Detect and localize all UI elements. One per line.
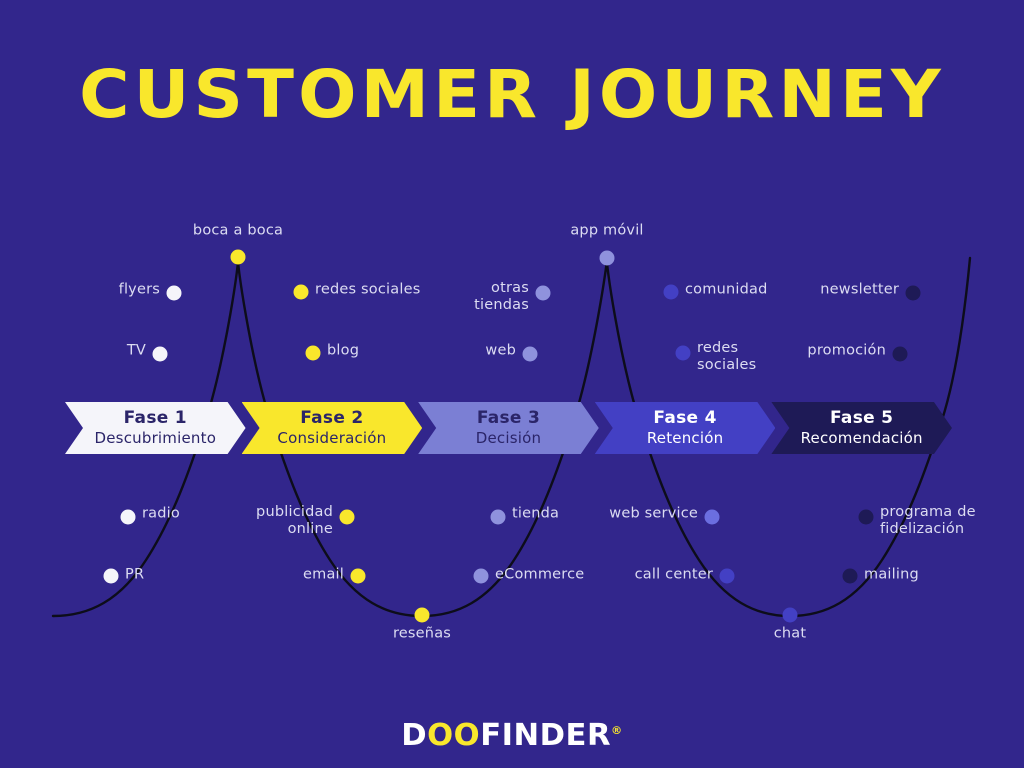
touchpoint-label: promoción (807, 342, 886, 359)
touchpoint-label: eCommerce (495, 566, 584, 583)
touchpoint-dot[interactable] (474, 569, 489, 584)
touchpoint-label: publicidad online (256, 504, 333, 538)
touchpoint-dot[interactable] (536, 286, 551, 301)
touchpoint-label: call center (635, 566, 713, 583)
phase-number: Fase 5 (830, 409, 893, 429)
touchpoint-dot[interactable] (415, 608, 430, 623)
touchpoint-label: app móvil (570, 222, 643, 239)
touchpoint-label: programa de fidelización (880, 504, 976, 538)
phase-name: Recomendación (801, 429, 923, 447)
phase-5[interactable]: Fase 5Recomendación (771, 402, 952, 454)
touchpoint-dot[interactable] (294, 285, 309, 300)
touchpoint-dot[interactable] (600, 251, 615, 266)
touchpoint-label: blog (327, 342, 359, 359)
logo-suffix: FINDER (480, 718, 611, 753)
touchpoint-dot[interactable] (783, 608, 798, 623)
touchpoint-label: web (485, 342, 516, 359)
touchpoint-dot[interactable] (351, 569, 366, 584)
touchpoint-label: redes sociales (697, 340, 756, 374)
touchpoint-label: newsletter (820, 281, 899, 298)
phase-number: Fase 1 (124, 409, 187, 429)
touchpoint-label: PR (125, 566, 144, 583)
touchpoint-dot[interactable] (104, 569, 119, 584)
touchpoint-dot[interactable] (859, 510, 874, 525)
touchpoint-dot[interactable] (676, 346, 691, 361)
doofinder-logo: DOOFINDER® (0, 718, 1024, 753)
logo-oo: OO (427, 718, 480, 753)
touchpoint-dot[interactable] (893, 347, 908, 362)
touchpoint-dot[interactable] (906, 286, 921, 301)
touchpoint-label: comunidad (685, 281, 767, 298)
touchpoint-dot[interactable] (523, 347, 538, 362)
phase-name: Retención (647, 429, 724, 447)
infographic-canvas: CUSTOMER JOURNEY boca a bocaflyersTVradi… (0, 0, 1024, 768)
phase-number: Fase 4 (653, 409, 716, 429)
touchpoint-dot[interactable] (153, 347, 168, 362)
touchpoint-dot[interactable] (231, 250, 246, 265)
touchpoint-label: web service (609, 505, 698, 522)
phase-4[interactable]: Fase 4Retención (595, 402, 776, 454)
touchpoint-dot[interactable] (167, 286, 182, 301)
touchpoint-dot[interactable] (664, 285, 679, 300)
touchpoint-label: radio (142, 505, 180, 522)
phase-3[interactable]: Fase 3Decisión (418, 402, 599, 454)
touchpoint-dot[interactable] (340, 510, 355, 525)
phase-2[interactable]: Fase 2Consideración (242, 402, 423, 454)
touchpoint-label: reseñas (393, 625, 451, 642)
touchpoint-dot[interactable] (843, 569, 858, 584)
phase-banner: Fase 1DescubrimientoFase 2ConsideraciónF… (65, 402, 948, 454)
logo-prefix: D (401, 718, 427, 753)
phase-name: Decisión (476, 429, 541, 447)
journey-wave-curve (0, 0, 1024, 768)
phase-name: Descubrimiento (95, 429, 217, 447)
touchpoint-label: otras tiendas (474, 280, 529, 314)
phase-1[interactable]: Fase 1Descubrimiento (65, 402, 246, 454)
phase-name: Consideración (277, 429, 386, 447)
touchpoint-label: flyers (119, 281, 160, 298)
touchpoint-label: email (303, 566, 344, 583)
touchpoint-dot[interactable] (121, 510, 136, 525)
phase-number: Fase 3 (477, 409, 540, 429)
touchpoint-dot[interactable] (306, 346, 321, 361)
registered-trademark-icon: ® (611, 724, 623, 737)
touchpoint-label: TV (127, 342, 146, 359)
touchpoint-dot[interactable] (491, 510, 506, 525)
touchpoint-dot[interactable] (705, 510, 720, 525)
touchpoint-label: boca a boca (193, 222, 283, 239)
touchpoint-dot[interactable] (720, 569, 735, 584)
touchpoint-label: chat (774, 625, 807, 642)
touchpoint-label: redes sociales (315, 281, 420, 298)
touchpoint-label: tienda (512, 505, 559, 522)
phase-number: Fase 2 (300, 409, 363, 429)
touchpoint-label: mailing (864, 566, 919, 583)
